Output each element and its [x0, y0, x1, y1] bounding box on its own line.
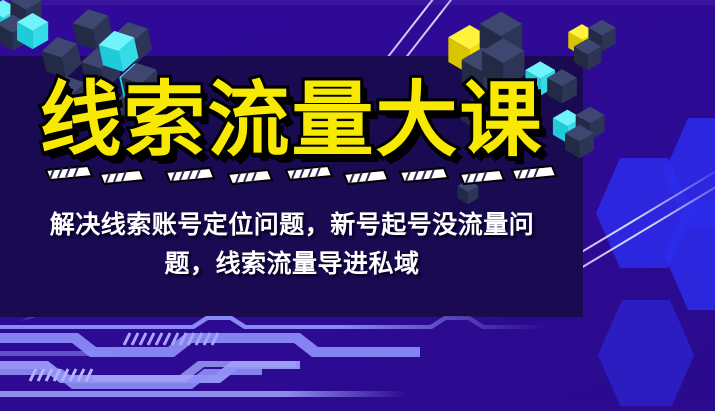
- circuit-rail-bottom: [0, 391, 408, 397]
- poster-title: 线索流量大课: [39, 78, 543, 163]
- poster-title-wrap: 线索流量大课: [0, 78, 583, 163]
- circuit-rail-mid: [0, 351, 114, 356]
- poster-subtitle-wrap: 解决线索账号定位问题，新号起号没流量问 题，线索流量导进私域: [36, 206, 548, 284]
- poster-subtitle-line-2: 题，线索流量导进私域: [36, 245, 548, 284]
- background-top-strip: [0, 0, 715, 5]
- circuit-rail-top: [0, 316, 548, 329]
- circuit-decoration: [0, 311, 715, 411]
- course-poster: 线索流量大课: [0, 0, 715, 411]
- poster-subtitle-line-1: 解决线索账号定位问题，新号起号没流量问: [36, 206, 548, 245]
